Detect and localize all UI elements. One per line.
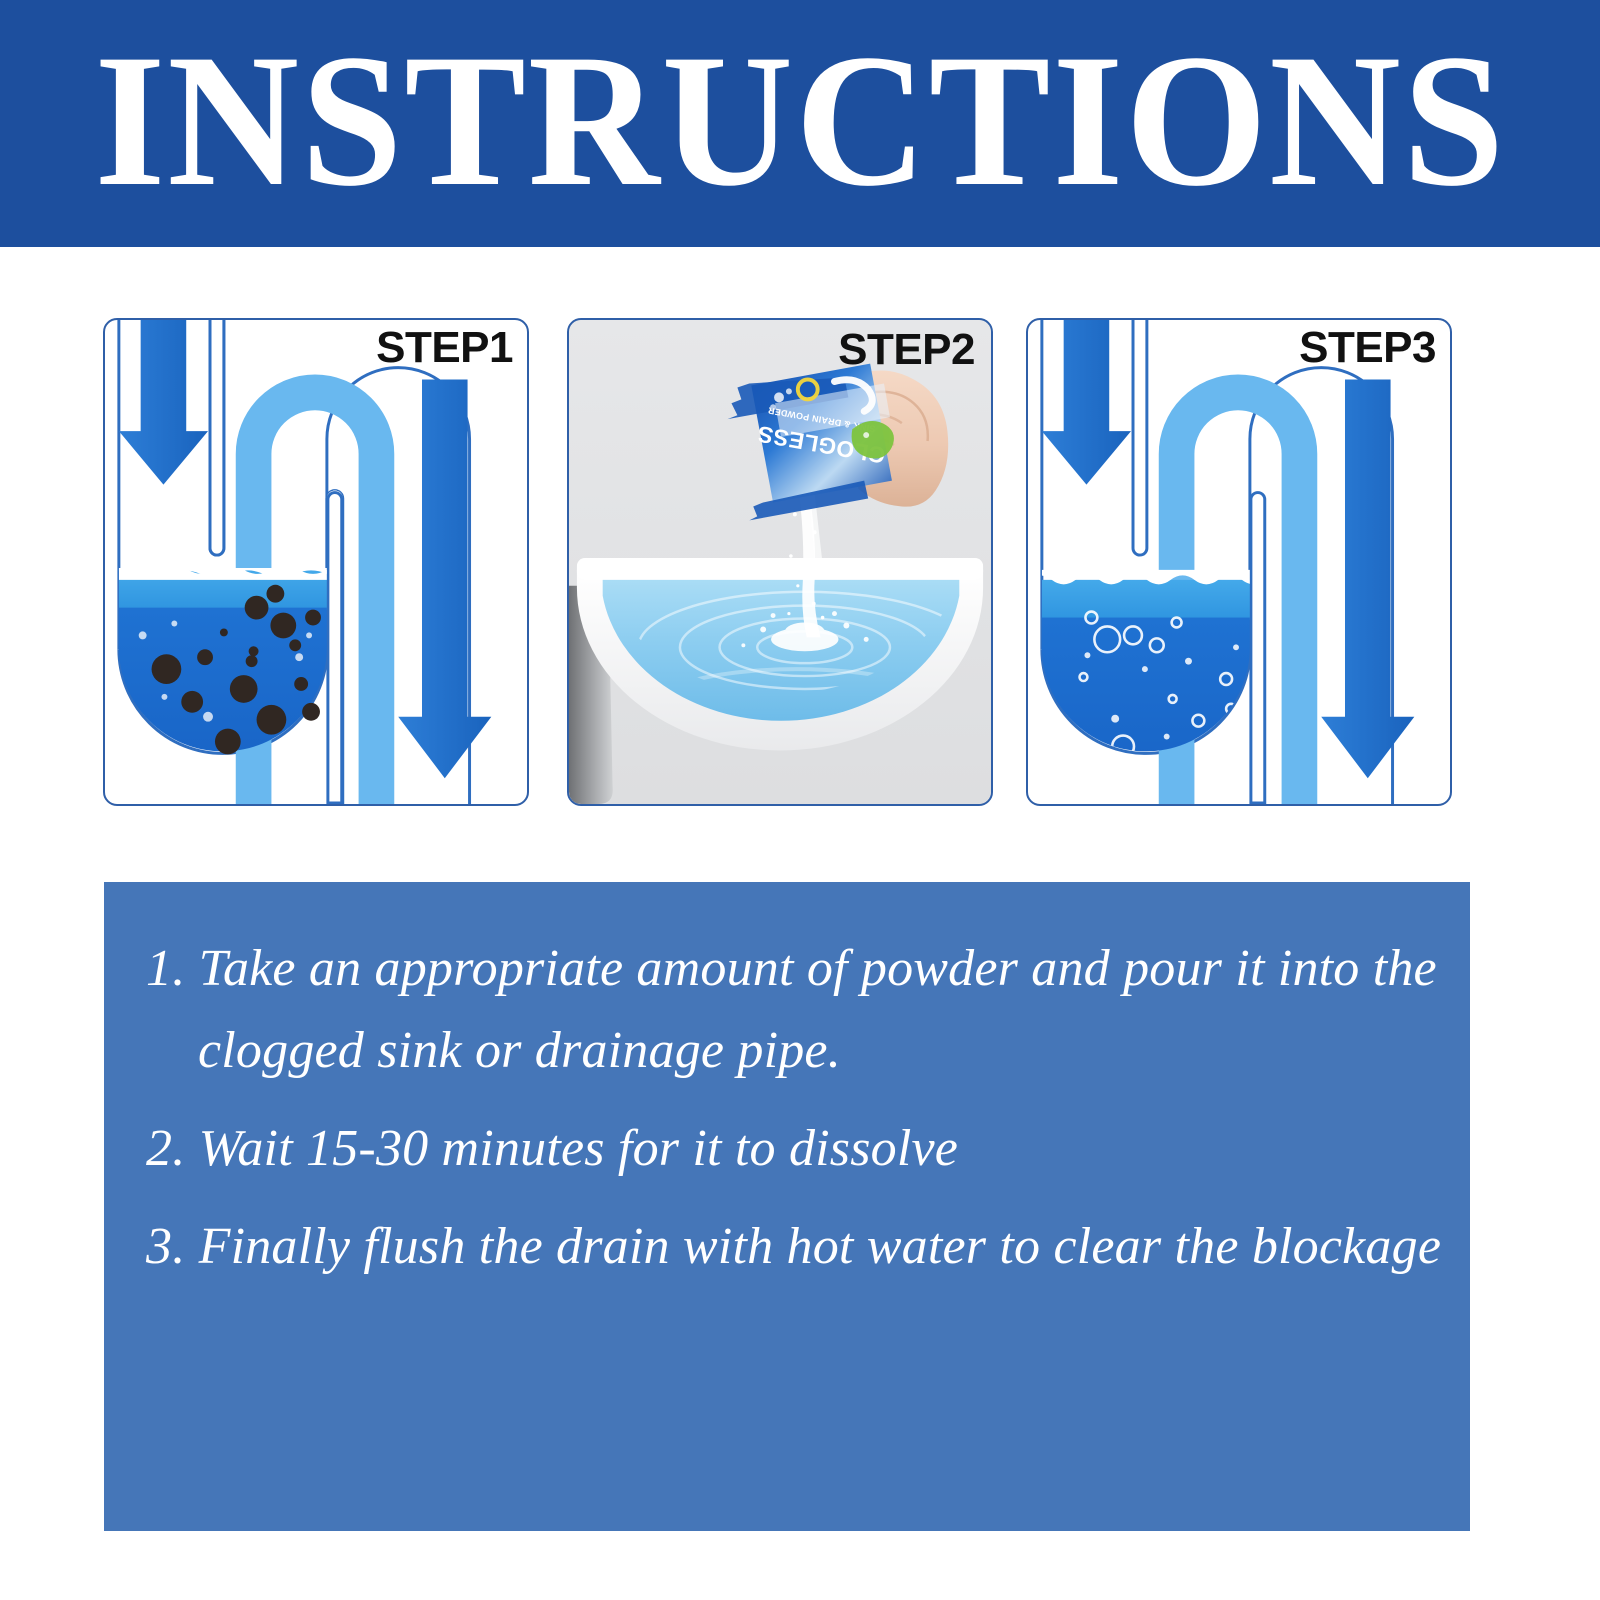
p-trap-clear-diagram — [1028, 320, 1450, 804]
step-label-3: STEP3 — [1299, 326, 1436, 370]
step-panel-3: STEP3 — [1026, 318, 1452, 806]
toilet-pour-scene: CLOGLESS SINK & DRAIN POWDER — [569, 320, 991, 804]
step-label-1: STEP1 — [376, 326, 513, 370]
instructions-box: 1. Take an appropriate amount of powder … — [104, 882, 1470, 1531]
outlet-arrow-down — [398, 380, 491, 779]
inlet-arrow-down — [119, 320, 208, 485]
step1-illustration — [105, 320, 527, 804]
steps-row: STEP1 — [0, 318, 1600, 810]
outlet-arrow-down — [1321, 380, 1414, 779]
inlet-arrow-down — [1042, 320, 1131, 485]
page-title: INSTRUCTIONS — [94, 26, 1506, 216]
step2-illustration: CLOGLESS SINK & DRAIN POWDER — [569, 320, 991, 804]
step-label-2: STEP2 — [838, 328, 975, 372]
p-trap-clogged-diagram — [105, 320, 527, 804]
instruction-item-1: 1. Take an appropriate amount of powder … — [146, 928, 1442, 1092]
instruction-item-3: 3. Finally flush the drain with hot wate… — [146, 1206, 1442, 1288]
step-panel-1: STEP1 — [103, 318, 529, 806]
step-panel-2: CLOGLESS SINK & DRAIN POWDER — [567, 318, 993, 806]
instructions-list: 1. Take an appropriate amount of powder … — [146, 928, 1442, 1305]
instruction-item-2: 2. Wait 15-30 minutes for it to dissolve — [146, 1108, 1442, 1190]
header-banner: INSTRUCTIONS — [0, 0, 1600, 247]
step3-illustration — [1028, 320, 1450, 804]
